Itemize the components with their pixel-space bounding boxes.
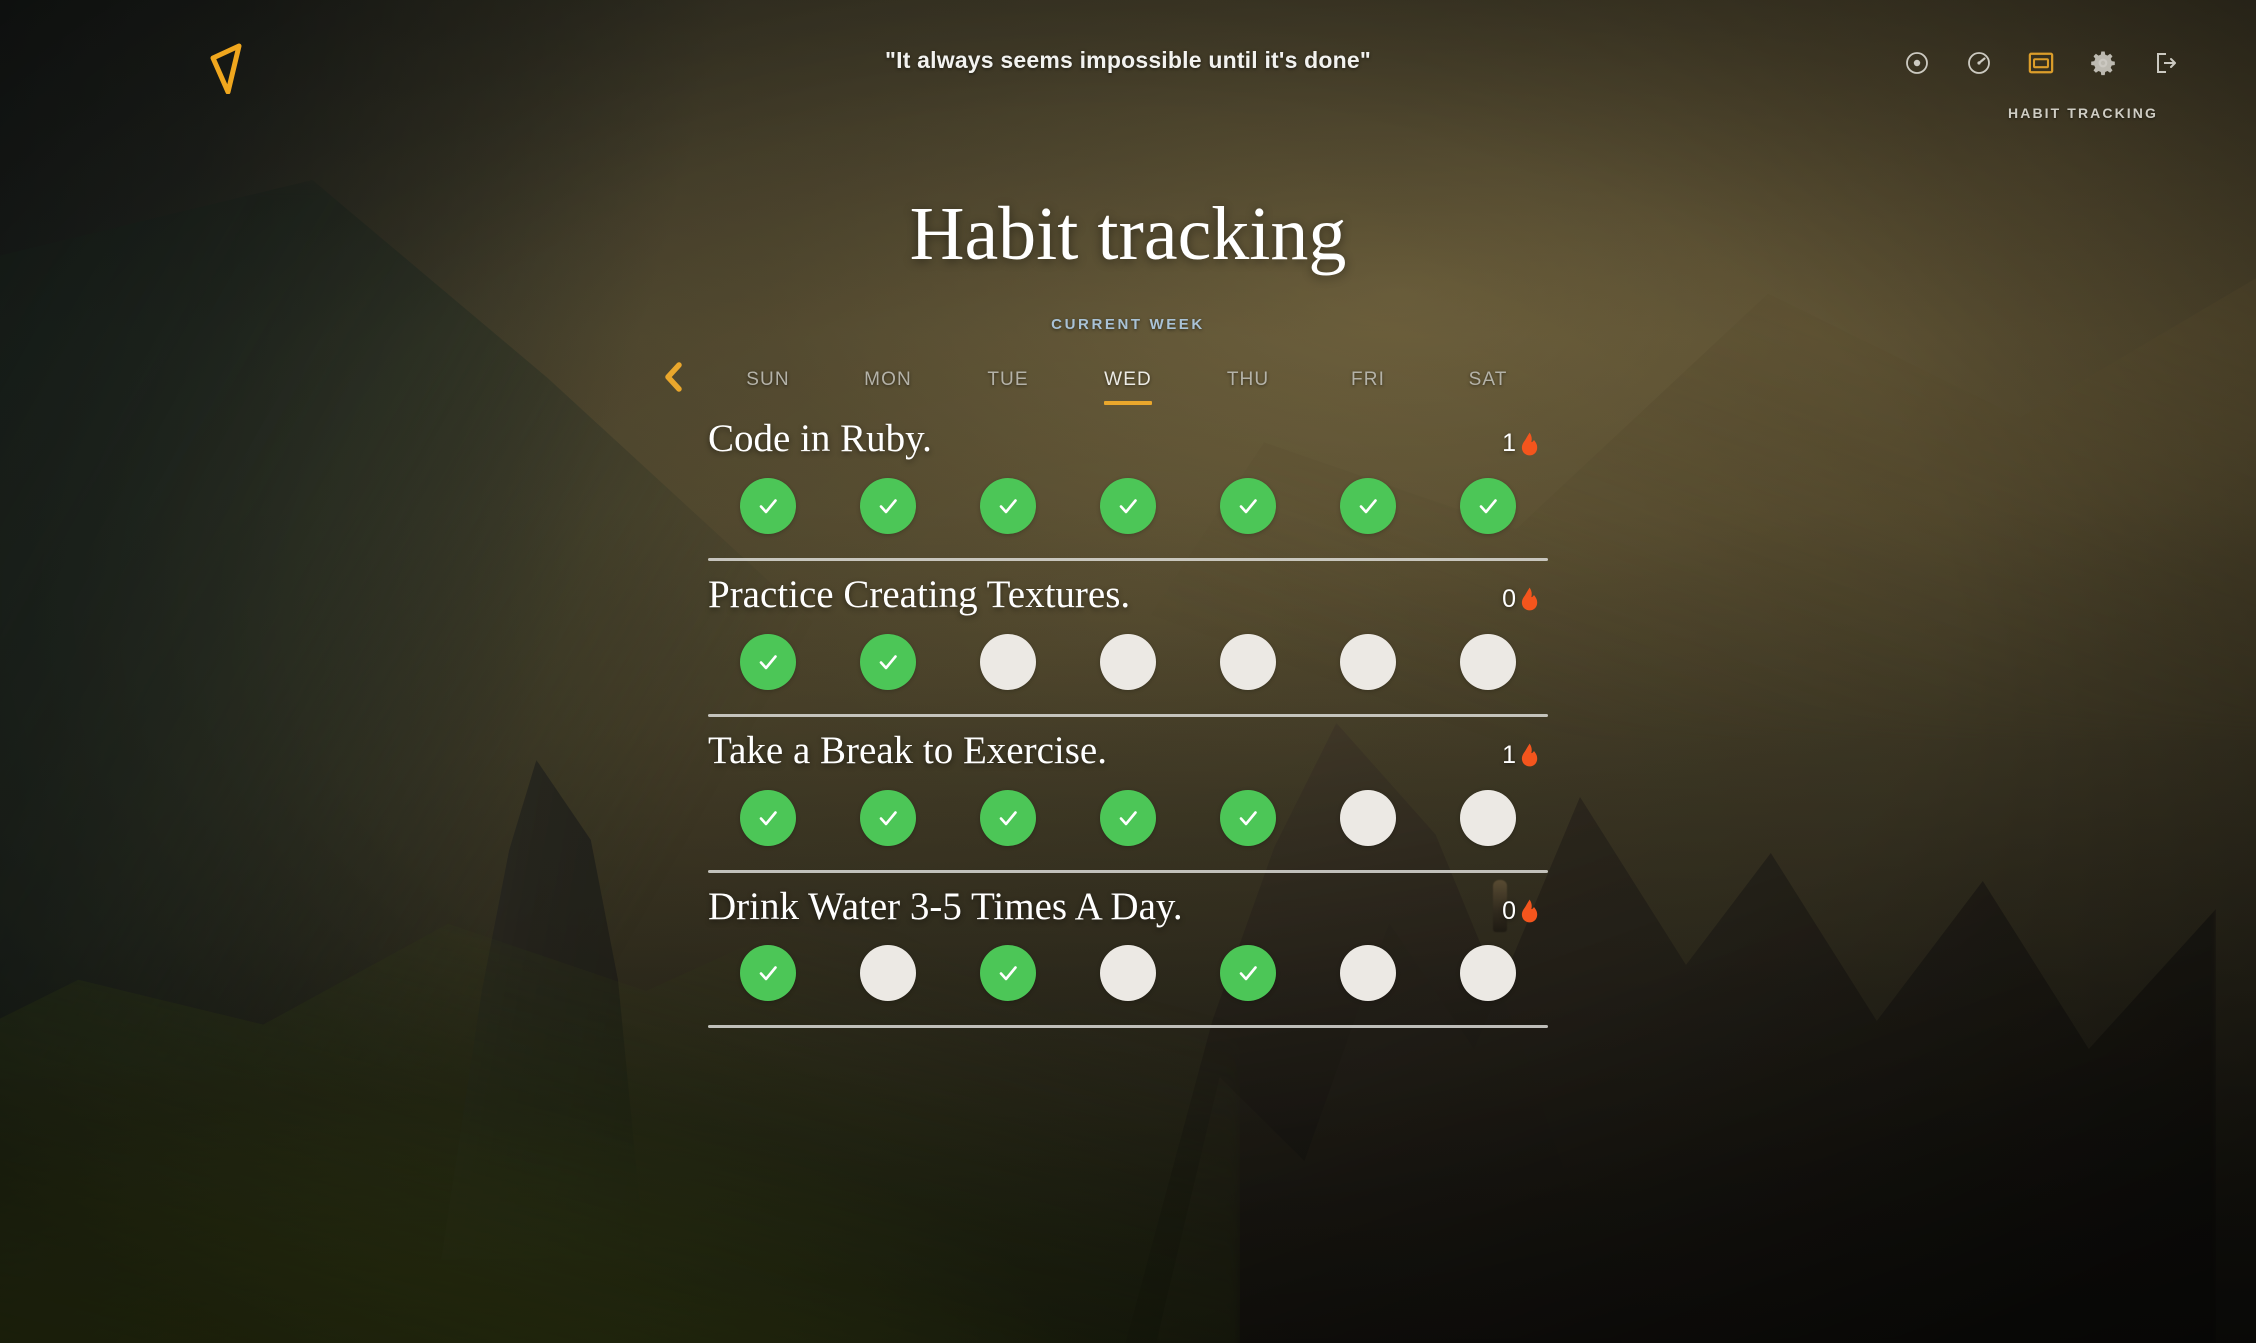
habit-row: Practice Creating Textures.0: [708, 561, 1548, 717]
habit-name: Take a Break to Exercise.: [708, 729, 1107, 774]
day-header-sun[interactable]: SUN: [708, 369, 828, 405]
habit-check-fri[interactable]: [1340, 945, 1396, 1001]
streak-count: 0: [1502, 897, 1516, 926]
habit-check-fri[interactable]: [1340, 790, 1396, 846]
flame-icon: [1521, 743, 1538, 767]
flame-icon: [1521, 587, 1538, 611]
day-header-row: SUN MON TUE WED THU FRI SAT: [708, 359, 1548, 405]
check-icon: [1236, 806, 1260, 830]
habit-header: Practice Creating Textures.0: [708, 573, 1548, 618]
check-icon: [1116, 806, 1140, 830]
habit-name: Code in Ruby.: [708, 417, 932, 462]
habit-row: Code in Ruby.1: [708, 405, 1548, 561]
day-header-sat[interactable]: SAT: [1428, 369, 1548, 405]
habit-name: Practice Creating Textures.: [708, 573, 1130, 618]
board-icon[interactable]: [2028, 50, 2054, 76]
top-bar: "It always seems impossible until it's d…: [0, 0, 2256, 120]
day-header-fri[interactable]: FRI: [1308, 369, 1428, 405]
habit-check-thu[interactable]: [1220, 478, 1276, 534]
habit-check-row: [708, 790, 1548, 846]
day-header-mon[interactable]: MON: [828, 369, 948, 405]
speedometer-icon[interactable]: [1966, 50, 1992, 76]
habit-header: Take a Break to Exercise.1: [708, 729, 1548, 774]
day-header-thu[interactable]: THU: [1188, 369, 1308, 405]
habit-check-mon[interactable]: [860, 945, 916, 1001]
habit-check-tue[interactable]: [980, 790, 1036, 846]
streak-count: 0: [1502, 585, 1516, 614]
check-icon: [756, 961, 780, 985]
habit-check-thu[interactable]: [1220, 790, 1276, 846]
check-icon: [996, 806, 1020, 830]
day-header-wed[interactable]: WED: [1068, 369, 1188, 405]
streak-count: 1: [1502, 741, 1516, 770]
chevron-left-icon[interactable]: [660, 361, 686, 393]
habit-row: Take a Break to Exercise.1: [708, 717, 1548, 873]
check-icon: [876, 494, 900, 518]
check-icon: [996, 961, 1020, 985]
habit-row: Drink Water 3-5 Times A Day.0: [708, 873, 1548, 1029]
current-week-label: CURRENT WEEK: [708, 316, 1548, 333]
habit-header: Drink Water 3-5 Times A Day.0: [708, 885, 1548, 930]
check-icon: [1476, 494, 1500, 518]
habit-check-sun[interactable]: [740, 790, 796, 846]
check-icon: [876, 650, 900, 674]
habit-check-wed[interactable]: [1100, 945, 1156, 1001]
check-icon: [756, 650, 780, 674]
active-nav-caption: HABIT TRACKING: [2008, 105, 2158, 121]
habit-check-row: [708, 634, 1548, 690]
streak-count: 1: [1502, 429, 1516, 458]
habit-name: Drink Water 3-5 Times A Day.: [708, 885, 1183, 930]
habit-check-thu[interactable]: [1220, 634, 1276, 690]
habit-check-sun[interactable]: [740, 478, 796, 534]
habit-check-tue[interactable]: [980, 945, 1036, 1001]
habit-check-tue[interactable]: [980, 478, 1036, 534]
habit-check-wed[interactable]: [1100, 478, 1156, 534]
habit-streak: 0: [1502, 897, 1538, 926]
flame-icon: [1521, 899, 1538, 923]
habit-check-sun[interactable]: [740, 634, 796, 690]
habit-check-sat[interactable]: [1460, 478, 1516, 534]
flame-icon: [1521, 432, 1538, 456]
day-header-tue[interactable]: TUE: [948, 369, 1068, 405]
nav-icon-group: [1904, 50, 2178, 76]
habit-header: Code in Ruby.1: [708, 417, 1548, 462]
habit-check-sun[interactable]: [740, 945, 796, 1001]
check-icon: [876, 806, 900, 830]
habit-check-sat[interactable]: [1460, 790, 1516, 846]
target-icon[interactable]: [1904, 50, 1930, 76]
habit-check-sat[interactable]: [1460, 634, 1516, 690]
app-root: "It always seems impossible until it's d…: [0, 0, 2256, 1343]
page-title: Habit tracking: [708, 196, 1548, 272]
habit-check-wed[interactable]: [1100, 634, 1156, 690]
habit-check-mon[interactable]: [860, 790, 916, 846]
check-icon: [756, 494, 780, 518]
habit-check-row: [708, 945, 1548, 1001]
check-icon: [756, 806, 780, 830]
check-icon: [996, 494, 1020, 518]
habit-check-mon[interactable]: [860, 634, 916, 690]
habit-check-fri[interactable]: [1340, 634, 1396, 690]
check-icon: [1356, 494, 1380, 518]
check-icon: [1116, 494, 1140, 518]
habit-streak: 1: [1502, 741, 1538, 770]
check-icon: [1236, 494, 1260, 518]
habit-check-thu[interactable]: [1220, 945, 1276, 1001]
habit-check-wed[interactable]: [1100, 790, 1156, 846]
habit-streak: 0: [1502, 585, 1538, 614]
habit-streak: 1: [1502, 429, 1538, 458]
logout-icon[interactable]: [2152, 50, 2178, 76]
habit-check-row: [708, 478, 1548, 534]
habit-check-fri[interactable]: [1340, 478, 1396, 534]
habit-check-mon[interactable]: [860, 478, 916, 534]
check-icon: [1236, 961, 1260, 985]
main-content: Habit tracking CURRENT WEEK SUN MON TUE …: [708, 196, 1548, 1028]
habit-list: Code in Ruby.1Practice Creating Textures…: [708, 405, 1548, 1028]
habit-check-sat[interactable]: [1460, 945, 1516, 1001]
habit-check-tue[interactable]: [980, 634, 1036, 690]
gear-icon[interactable]: [2090, 50, 2116, 76]
habit-divider: [708, 1025, 1548, 1028]
